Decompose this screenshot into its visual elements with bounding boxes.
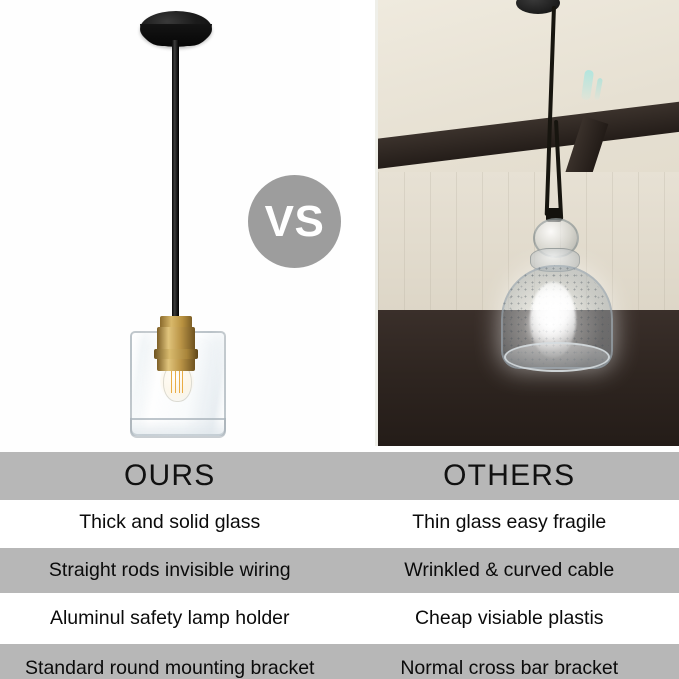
cell-ours-2: Straight rods invisible wiring <box>0 559 340 582</box>
cell-others-2: Wrinkled & curved cable <box>340 559 679 582</box>
table-row: Standard round mounting bracket Normal c… <box>0 644 679 679</box>
hero-visuals: VS <box>0 0 679 452</box>
straight-rod <box>172 40 179 325</box>
vs-badge: VS <box>248 175 341 268</box>
glass-shade-base <box>130 418 226 438</box>
vs-badge-label: VS <box>265 200 325 244</box>
table-header-row: OURS OTHERS <box>0 452 679 500</box>
cell-others-1: Thin glass easy fragile <box>340 511 679 534</box>
table-row: Straight rods invisible wiring Wrinkled … <box>0 548 679 593</box>
column-header-others: OTHERS <box>340 459 679 493</box>
cell-others-4: Normal cross bar bracket <box>340 657 679 679</box>
others-product-image <box>375 0 679 446</box>
table-row: Thick and solid glass Thin glass easy fr… <box>0 500 679 545</box>
comparison-infographic: VS OURS OTHERS <box>0 0 679 679</box>
cell-ours-3: Aluminul safety lamp holder <box>0 607 340 630</box>
photo-dome-rim <box>504 342 610 372</box>
bulb-filament <box>169 369 185 393</box>
cell-ours-4: Standard round mounting bracket <box>0 657 340 679</box>
brass-socket-ring <box>154 349 198 359</box>
table-row: Aluminul safety lamp holder Cheap visiab… <box>0 596 679 641</box>
cell-others-3: Cheap visiable plastis <box>340 607 679 630</box>
column-header-ours: OURS <box>0 459 340 493</box>
comparison-table: OURS OTHERS Thick and solid glass Thin g… <box>0 452 679 679</box>
cell-ours-1: Thick and solid glass <box>0 511 340 534</box>
